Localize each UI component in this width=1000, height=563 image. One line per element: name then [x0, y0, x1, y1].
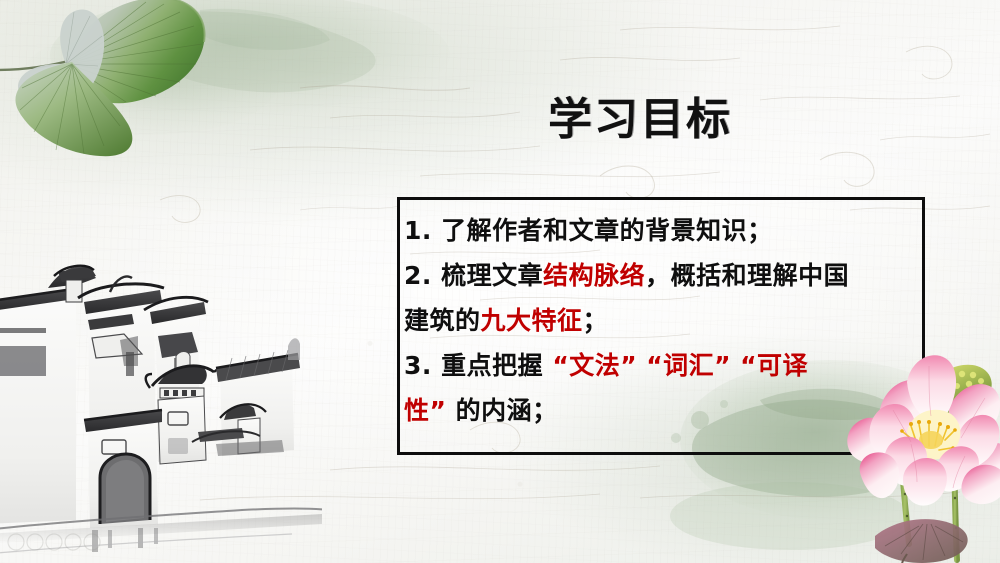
- objective-2-number: 2.: [404, 261, 432, 290]
- objective-5-text: 的内涵；: [446, 396, 557, 425]
- objective-2-text-a: 梳理文章: [432, 261, 543, 290]
- objective-1-text: 了解作者和文章的背景知识；: [432, 216, 773, 245]
- slide-canvas: 学习目标 1. 了解作者和文章的背景知识； 2. 梳理文章结构脉络，概括和理解中…: [0, 0, 1000, 563]
- objective-5-term-continued: 性”: [404, 396, 446, 425]
- objective-4-term-2: “词汇”: [646, 351, 731, 380]
- green-ink-wash-top: [20, 0, 450, 135]
- objective-line-2: 2. 梳理文章结构脉络，概括和理解中国: [404, 253, 934, 298]
- objective-2-highlight: 结构脉络: [543, 261, 645, 290]
- objective-4-text-a: 重点把握: [432, 351, 552, 380]
- objective-1-number: 1.: [404, 216, 432, 245]
- objective-line-1: 1. 了解作者和文章的背景知识；: [404, 208, 934, 253]
- objective-2-text-b: ，概括和理解中国: [645, 261, 849, 290]
- objective-4-term-3: “可译: [740, 351, 808, 380]
- objective-line-5: 性” 的内涵；: [404, 388, 934, 433]
- objective-3-text-b: ；: [583, 306, 609, 335]
- objective-4-number: 3.: [404, 351, 432, 380]
- objective-line-3: 建筑的九大特征；: [404, 298, 934, 343]
- objective-4-term-1: “文法”: [552, 351, 637, 380]
- slide-title: 学习目标: [400, 96, 880, 144]
- objectives-text-block: 1. 了解作者和文章的背景知识； 2. 梳理文章结构脉络，概括和理解中国 建筑的…: [404, 208, 934, 433]
- objective-line-4: 3. 重点把握 “文法”“词汇”“可译: [404, 343, 934, 388]
- objective-3-highlight: 九大特征: [481, 306, 583, 335]
- objective-3-text-a: 建筑的: [404, 306, 481, 335]
